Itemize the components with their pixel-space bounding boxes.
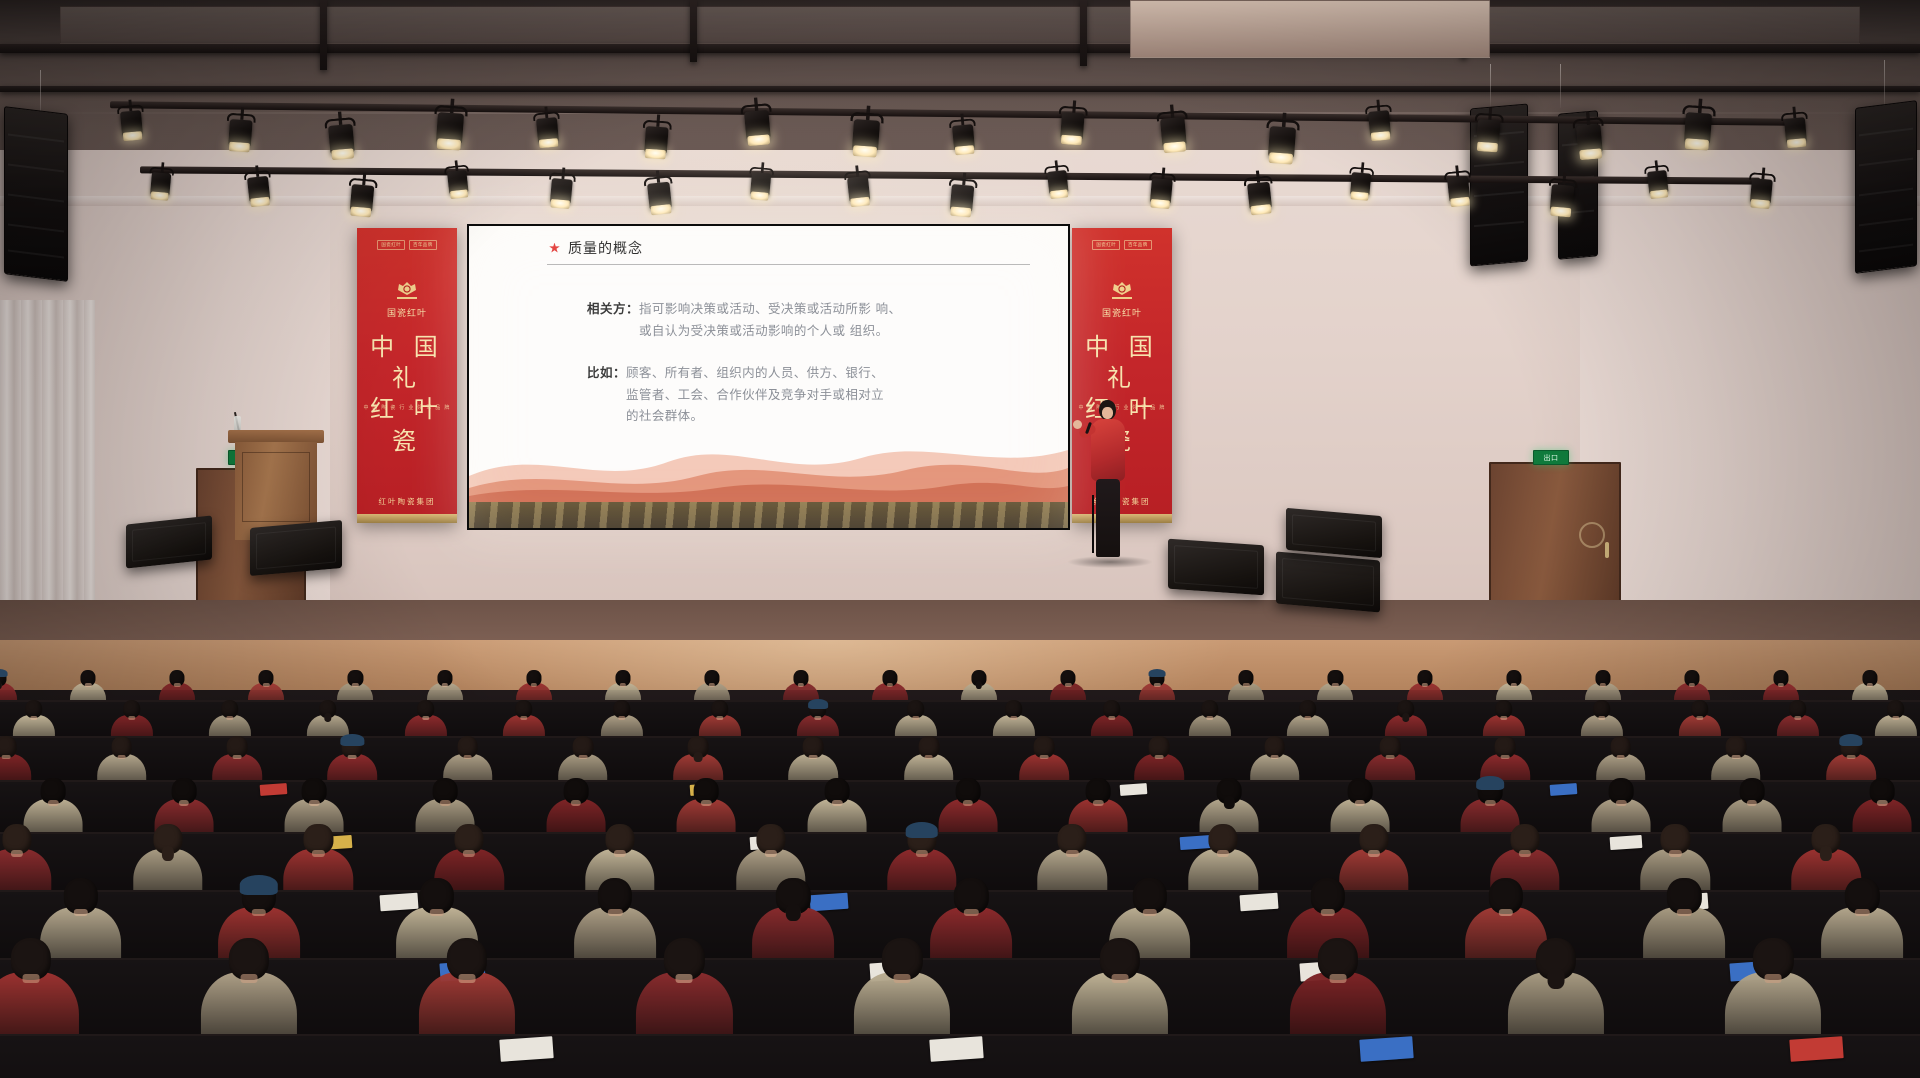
banner-left-sub: 中 国 陶 瓷 行 业 领 军 品 牌 (357, 404, 457, 411)
banner-left-main: 中 国 礼 红 叶 瓷 (357, 332, 457, 457)
audience-neck (1500, 716, 1507, 720)
audience-cap-icon (0, 669, 8, 678)
audience-neck (571, 800, 581, 806)
audience-neck (23, 974, 40, 983)
ceiling-beam (0, 44, 1920, 53)
audience-neck (1217, 850, 1229, 857)
audience-neck (701, 800, 711, 806)
exit-sign-right-label: 出口 (1544, 453, 1559, 463)
audience-neck (1519, 850, 1531, 857)
slide-title: 质量的概念 (568, 238, 643, 258)
audience-neck (1747, 800, 1757, 806)
handout-paper (1789, 1036, 1843, 1061)
banner-left-brand: 国瓷红叶 (357, 306, 457, 319)
audience-neck (1093, 800, 1103, 806)
audience-neck (48, 800, 58, 806)
audience-neck (458, 974, 475, 983)
audience-neck (765, 850, 777, 857)
audience-neck (1669, 850, 1681, 857)
audience-neck (894, 974, 911, 983)
audience-neck (915, 850, 927, 857)
audience-neck (1855, 909, 1869, 917)
audience-neck (226, 716, 233, 720)
banner-tag: 国瓷红叶 (377, 240, 405, 250)
handout-paper (1239, 893, 1278, 911)
floor-monitor (126, 515, 212, 568)
audience-neck (924, 755, 933, 760)
banner-left-gold-edge (357, 514, 457, 523)
audience-hair-tie-icon (1820, 846, 1832, 861)
audience-neck (912, 716, 919, 720)
slide-title-row: 质量的概念 (549, 238, 1028, 258)
audience-neck (614, 850, 626, 857)
banner-left-line1: 中 国 礼 (357, 332, 457, 394)
door-handle-icon (1605, 542, 1609, 558)
slide-paragraph-1: 相关方： 指可影响决策或活动、受决策或活动所影 响、 或自认为受决策或活动影响的… (587, 298, 1026, 341)
lotus-crest-icon (394, 280, 420, 304)
audience-cap-icon (1149, 669, 1166, 678)
presenter-legs (1096, 479, 1120, 557)
window-curtain (0, 300, 95, 630)
audience-hair-tie-icon (694, 752, 703, 763)
speaker-array-far-right (1855, 100, 1917, 274)
audience-cap-icon (1477, 776, 1505, 790)
audience-neck (1270, 755, 1279, 760)
presenter-torso (1091, 419, 1125, 481)
door-ring-emblem-icon (1579, 522, 1605, 548)
banner-left-footer: 红叶陶瓷集团 (357, 496, 457, 507)
audience-neck (440, 800, 450, 806)
audience-neck (73, 909, 87, 917)
presenter (1081, 400, 1137, 565)
lectern-panel (242, 452, 310, 522)
ceiling-panel (1130, 0, 1490, 58)
banner-tag: 百年品牌 (1124, 240, 1152, 250)
audience-neck (463, 755, 472, 760)
audience-neck (1066, 850, 1078, 857)
slide-gold-footer-bar (469, 502, 1068, 528)
audience-neck (1501, 755, 1510, 760)
audience-neck (1616, 755, 1625, 760)
audience-neck (1304, 716, 1311, 720)
audience-neck (1040, 755, 1049, 760)
audience-cap-icon (905, 822, 938, 839)
banner-tag: 百年品牌 (409, 240, 437, 250)
audience-hair-tie-icon (786, 904, 800, 922)
audience-neck (422, 716, 429, 720)
audience-neck (252, 909, 266, 917)
audience-neck (117, 755, 126, 760)
slide-text-line: 或自认为受决策或活动影响的个人或 组织。 (639, 323, 888, 338)
audience-neck (1598, 716, 1605, 720)
slide-surface: 质量的概念 相关方： 指可影响决策或活动、受决策或活动所影 响、 或自认为受决策… (469, 226, 1068, 528)
ceiling-beam (320, 0, 327, 70)
audience-neck (832, 800, 842, 806)
audience-neck (1877, 800, 1887, 806)
slide-decorative-hills (469, 402, 1068, 502)
audience-neck (1010, 716, 1017, 720)
audience-neck (11, 850, 23, 857)
audience-neck (716, 716, 723, 720)
auditorium-scene: 国瓷红叶 百年品牌 国瓷红叶 中 国 礼 红 叶 瓷 中 国 陶 瓷 行 业 领… (0, 0, 1920, 1078)
audience-neck (1368, 850, 1380, 857)
audience-neck (1765, 974, 1782, 983)
audience-neck (1731, 755, 1740, 760)
audience-neck (1112, 974, 1129, 983)
audience-cap-icon (341, 734, 364, 746)
audience-neck (1108, 716, 1115, 720)
audience-neck (2, 755, 11, 760)
audience-neck (608, 909, 622, 917)
slide-label-1: 相关方： (587, 298, 639, 341)
slide-text-line: 监管者、工会、合作伙伴及竞争对手或相对立 (626, 387, 884, 402)
lotus-crest-icon (1109, 280, 1135, 304)
audience-neck (618, 716, 625, 720)
audience-neck (1677, 909, 1691, 917)
audience-neck (1892, 716, 1899, 720)
audience-neck (1321, 909, 1335, 917)
slide-text-1: 指可影响决策或活动、受决策或活动所影 响、 或自认为受决策或活动影响的个人或 组… (639, 298, 901, 341)
floor-monitor (1286, 508, 1382, 558)
audience-hair-tie-icon (976, 681, 982, 689)
banner-left: 国瓷红叶 百年品牌 国瓷红叶 中 国 礼 红 叶 瓷 中 国 陶 瓷 行 业 领… (357, 228, 457, 523)
handout-paper (1550, 783, 1578, 796)
red-star-icon (549, 243, 560, 254)
audience-neck (463, 850, 475, 857)
ceiling-panel (60, 6, 1860, 44)
audience-neck (809, 755, 818, 760)
floor-monitor (1276, 551, 1380, 612)
floor-monitor (1168, 539, 1264, 596)
audience-neck (240, 974, 257, 983)
audience-neck (1794, 716, 1801, 720)
slide-text-line: 指可影响决策或活动、受决策或活动所影 响、 (639, 301, 901, 316)
handout-paper (1359, 1036, 1413, 1061)
audience-neck (1485, 800, 1495, 806)
audience-neck (179, 800, 189, 806)
led-presentation-screen[interactable]: 质量的概念 相关方： 指可影响决策或活动、受决策或活动所影 响、 或自认为受决策… (467, 224, 1070, 530)
audience-neck (1155, 755, 1164, 760)
ceiling-beam (1080, 0, 1087, 66)
banner-tag: 国瓷红叶 (1092, 240, 1120, 250)
audience-neck (128, 716, 135, 720)
banner-right-brand: 国瓷红叶 (1072, 306, 1172, 319)
banner-right-line1: 中 国 礼 (1072, 332, 1172, 394)
handout-paper (499, 1036, 553, 1061)
audience-hair-tie-icon (1547, 968, 1564, 989)
banner-left-tags: 国瓷红叶 百年品牌 (357, 240, 457, 250)
audience-neck (520, 716, 527, 720)
exit-sign-right: 出口 (1533, 450, 1569, 465)
audience-neck (430, 909, 444, 917)
slide-title-rule (547, 264, 1030, 265)
audience-neck (578, 755, 587, 760)
audience-neck (964, 909, 978, 917)
audience-cap-icon (240, 875, 278, 895)
slide-text-line: 顾客、所有者、组织内的人员、供方、银行、 (626, 365, 884, 380)
ceiling-beam (0, 86, 1920, 92)
audience-neck (1847, 755, 1856, 760)
audience-neck (1329, 974, 1346, 983)
audience-cap-icon (1839, 734, 1862, 746)
floor-monitor (250, 520, 342, 576)
audience-neck (312, 850, 324, 857)
audience-neck (963, 800, 973, 806)
audience-neck (814, 716, 821, 720)
presenter-face (1102, 407, 1113, 419)
presenter-leg-gap (1092, 495, 1094, 553)
audience-cap-icon (808, 699, 828, 709)
audience-neck (309, 800, 319, 806)
audience-neck (348, 755, 357, 760)
audience-neck (676, 974, 693, 983)
audience-neck (233, 755, 242, 760)
audience-neck (1355, 800, 1365, 806)
rigging-wire (1560, 64, 1561, 108)
audience-neck (1142, 909, 1156, 917)
handout-paper (929, 1036, 983, 1061)
audience-neck (1696, 716, 1703, 720)
audience-neck (1499, 909, 1513, 917)
rigging-wire (1490, 64, 1491, 108)
presenter-hand (1073, 420, 1082, 429)
ceiling-beam (690, 0, 697, 62)
audience-neck (1206, 716, 1213, 720)
audience-neck (1386, 755, 1395, 760)
audience-neck (1616, 800, 1626, 806)
speaker-array-far-left (4, 106, 68, 282)
audience-hair-tie-icon (1224, 796, 1234, 809)
audience-neck (30, 716, 37, 720)
banner-right-tags: 国瓷红叶 百年品牌 (1072, 240, 1172, 250)
audience-hair-tie-icon (162, 846, 174, 861)
